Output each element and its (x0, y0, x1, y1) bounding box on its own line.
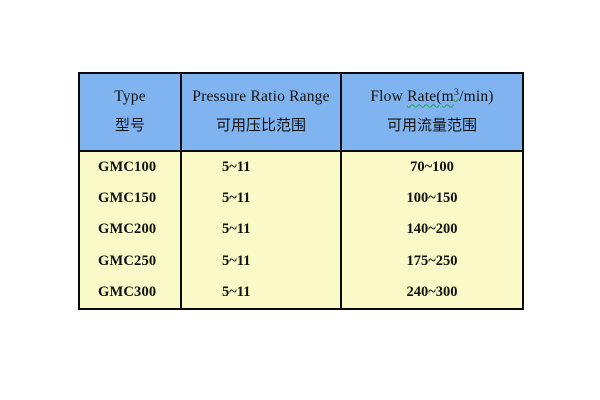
table-row: GMC150 5~11 100~150 (79, 183, 523, 214)
column-header-type-zh: 型号 (80, 119, 180, 135)
column-header-pressure-ratio-range-en: Pressure Ratio Range (182, 89, 340, 105)
cell-flow-rate: 100~150 (341, 183, 523, 214)
cell-flow-rate: 70~100 (341, 151, 523, 183)
column-header-pressure-ratio-range: Pressure Ratio Range 可用压比范围 (181, 73, 341, 151)
table-row: GMC200 5~11 140~200 (79, 214, 523, 245)
flow-rate-prefix-text: Flow (370, 88, 407, 105)
table-header: Type 型号 Pressure Ratio Range 可用压比范围 Flow… (79, 73, 523, 151)
cell-type: GMC300 (79, 277, 181, 309)
table-body: GMC100 5~11 70~100 GMC150 5~11 100~150 G… (79, 151, 523, 309)
cell-pressure-ratio: 5~11 (181, 214, 341, 245)
cell-pressure-ratio: 5~11 (181, 183, 341, 214)
table-row: GMC250 5~11 175~250 (79, 246, 523, 277)
table-row: GMC300 5~11 240~300 (79, 277, 523, 309)
column-header-type-en: Type (80, 89, 180, 105)
cell-type: GMC150 (79, 183, 181, 214)
cell-type: GMC200 (79, 214, 181, 245)
cell-flow-rate: 240~300 (341, 277, 523, 309)
cell-pressure-ratio: 5~11 (181, 277, 341, 309)
cell-pressure-ratio: 5~11 (181, 246, 341, 277)
column-header-pressure-ratio-range-zh: 可用压比范围 (182, 119, 340, 135)
column-header-flow-rate-en: Flow Rate(m3/min) (342, 89, 522, 105)
specification-table-container: Type 型号 Pressure Ratio Range 可用压比范围 Flow… (78, 72, 522, 310)
flow-rate-spellcheck-text: Rate(m (407, 88, 454, 105)
cell-flow-rate: 175~250 (341, 246, 523, 277)
table-row: GMC100 5~11 70~100 (79, 151, 523, 183)
cell-type: GMC100 (79, 151, 181, 183)
cell-pressure-ratio: 5~11 (181, 151, 341, 183)
column-header-flow-rate: Flow Rate(m3/min) 可用流量范围 (341, 73, 523, 151)
flow-rate-suffix-text: /min) (459, 88, 494, 105)
column-header-flow-rate-zh: 可用流量范围 (342, 119, 522, 135)
table-header-row: Type 型号 Pressure Ratio Range 可用压比范围 Flow… (79, 73, 523, 151)
cell-flow-rate: 140~200 (341, 214, 523, 245)
column-header-type: Type 型号 (79, 73, 181, 151)
cell-type: GMC250 (79, 246, 181, 277)
specification-table: Type 型号 Pressure Ratio Range 可用压比范围 Flow… (78, 72, 524, 310)
